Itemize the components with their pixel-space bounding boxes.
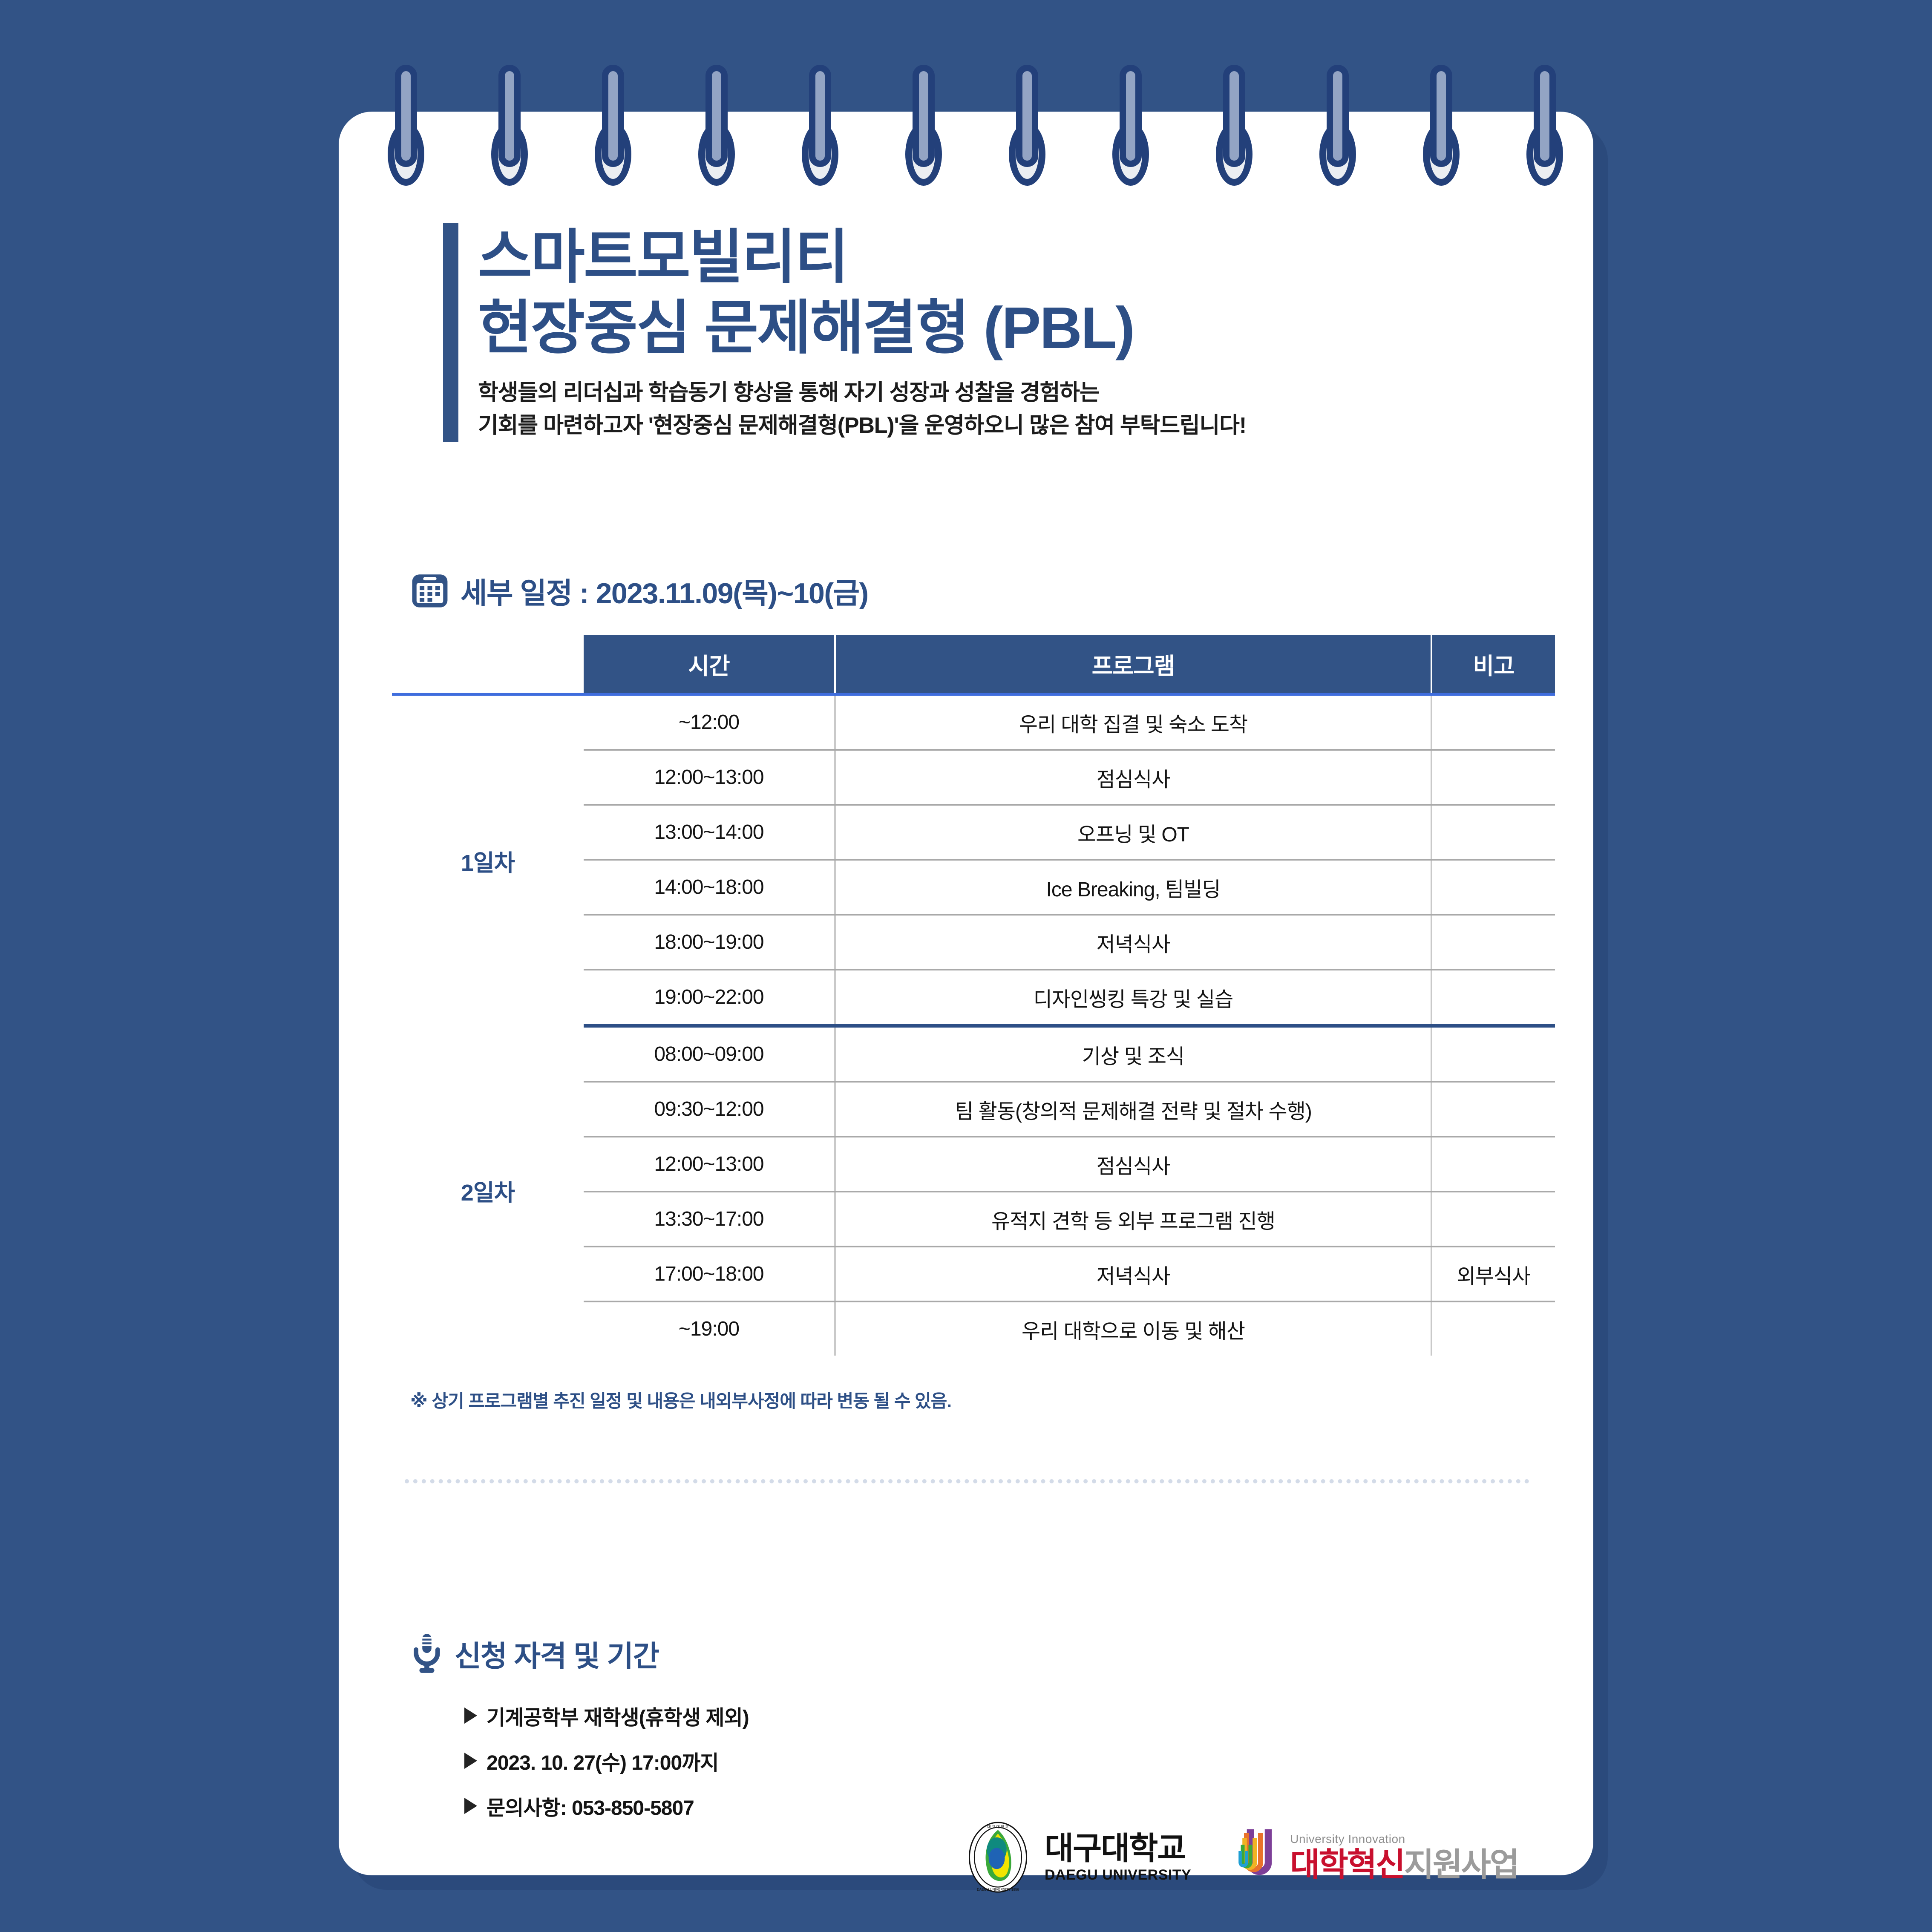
- column-header-time: 시간: [584, 635, 835, 694]
- column-header-note: 비고: [1431, 635, 1555, 694]
- cell-note: [1431, 1301, 1555, 1356]
- cell-note: [1431, 970, 1555, 1026]
- university-innovation-tagline: University Innovation: [1290, 1833, 1518, 1845]
- column-header-day: [392, 635, 584, 694]
- cell-program: Ice Breaking, 팀빌딩: [835, 860, 1431, 915]
- poster-subtitle-line1: 학생들의 리더십과 학습동기 향상을 통해 자기 성장과 성찰을 경험하는: [478, 377, 1246, 409]
- list-item: 2023. 10. 27(수) 17:00까지: [464, 1746, 749, 1776]
- calendar-icon: [410, 571, 449, 610]
- day-label: 1일차: [392, 694, 584, 1026]
- day-label: 2일차: [392, 1026, 584, 1356]
- cell-program: 저녁식사: [835, 915, 1431, 970]
- schedule-table: 시간 프로그램 비고 1일차 ~12:00 우리 대학 집결 및 숙소 도착 1…: [392, 635, 1555, 1356]
- title-accent-bar: [443, 223, 458, 442]
- cell-program: 오프닝 및 OT: [835, 805, 1431, 860]
- cell-note: [1431, 805, 1555, 860]
- cell-program: 저녁식사: [835, 1247, 1431, 1301]
- cell-note: [1431, 694, 1555, 750]
- table-row: 2일차 08:00~09:00 기상 및 조식: [392, 1026, 1555, 1082]
- cell-time: 18:00~19:00: [584, 915, 835, 970]
- daegu-university-logo: · 대 구 대 학 교 · DAEGU UNIVERSITY 1956 대구대학…: [961, 1820, 1191, 1895]
- university-innovation-name-red: 대학혁신: [1290, 1847, 1404, 1883]
- cell-time: 12:00~13:00: [584, 1137, 835, 1192]
- svg-text:DAEGU UNIVERSITY 1956: DAEGU UNIVERSITY 1956: [977, 1888, 1019, 1892]
- cell-note: [1431, 1026, 1555, 1082]
- cell-time: 17:00~18:00: [584, 1247, 835, 1301]
- list-item: 문의사항: 053-850-5807: [464, 1791, 749, 1821]
- cell-program: 점심식사: [835, 1137, 1431, 1192]
- university-innovation-u-icon: [1234, 1825, 1285, 1889]
- cell-time: 19:00~22:00: [584, 970, 835, 1026]
- daegu-university-name-kr: 대구대학교: [1045, 1833, 1191, 1864]
- cell-note: [1431, 1082, 1555, 1137]
- apply-items-list: 기계공학부 재학생(휴학생 제외) 2023. 10. 27(수) 17:00까…: [464, 1701, 749, 1836]
- cell-program: 유적지 견학 등 외부 프로그램 진행: [835, 1192, 1431, 1247]
- daegu-university-name-en: DAEGU UNIVERSITY: [1045, 1868, 1191, 1882]
- poster-title-block: 스마트모빌리티 현장중심 문제해결형 (PBL) 학생들의 리더십과 학습동기 …: [443, 223, 1246, 442]
- poster-title-line2: 현장중심 문제해결형 (PBL): [478, 294, 1246, 362]
- cell-time: ~12:00: [584, 694, 835, 750]
- university-innovation-name-gray: 지원사업: [1404, 1847, 1518, 1883]
- triangle-bullet-icon: [464, 1707, 477, 1724]
- poster-title-line1: 스마트모빌리티: [478, 223, 1246, 291]
- triangle-bullet-icon: [464, 1753, 477, 1769]
- cell-program: 우리 대학 집결 및 숙소 도착: [835, 694, 1431, 750]
- schedule-footnote: ※ 상기 프로그램별 추진 일정 및 내용은 내외부사정에 따라 변동 될 수 …: [410, 1387, 951, 1413]
- university-innovation-logo: University Innovation 대학혁신지원사업: [1234, 1825, 1518, 1889]
- cell-program: 디자인씽킹 특강 및 실습: [835, 970, 1431, 1026]
- schedule-heading-label: 세부 일정 : 2023.11.09(목)~10(금): [461, 570, 868, 612]
- svg-text:· 대 구 대 학 교 ·: · 대 구 대 학 교 ·: [985, 1825, 1011, 1829]
- cell-program: 점심식사: [835, 750, 1431, 805]
- schedule-heading: 세부 일정 : 2023.11.09(목)~10(금): [410, 570, 868, 612]
- cell-time: ~19:00: [584, 1301, 835, 1356]
- cell-time: 13:00~14:00: [584, 805, 835, 860]
- cell-note: [1431, 1192, 1555, 1247]
- cell-time: 13:30~17:00: [584, 1192, 835, 1247]
- apply-item-label: 2023. 10. 27(수) 17:00까지: [487, 1746, 718, 1776]
- schedule-header-row: 시간 프로그램 비고: [392, 635, 1555, 694]
- cell-note: [1431, 1137, 1555, 1192]
- logo-row: · 대 구 대 학 교 · DAEGU UNIVERSITY 1956 대구대학…: [961, 1820, 1518, 1895]
- cell-time: 14:00~18:00: [584, 860, 835, 915]
- cell-note: [1431, 915, 1555, 970]
- cell-program: 팀 활동(창의적 문제해결 전략 및 절차 수행): [835, 1082, 1431, 1137]
- apply-item-label: 기계공학부 재학생(휴학생 제외): [487, 1701, 749, 1730]
- cell-time: 08:00~09:00: [584, 1026, 835, 1082]
- cell-note: [1431, 860, 1555, 915]
- column-header-program: 프로그램: [835, 635, 1431, 694]
- section-divider: [405, 1479, 1529, 1483]
- apply-item-label: 문의사항: 053-850-5807: [487, 1791, 694, 1821]
- list-item: 기계공학부 재학생(휴학생 제외): [464, 1701, 749, 1730]
- triangle-bullet-icon: [464, 1798, 477, 1814]
- apply-heading: 신청 자격 및 기간: [410, 1633, 659, 1675]
- cell-time: 12:00~13:00: [584, 750, 835, 805]
- table-row: 1일차 ~12:00 우리 대학 집결 및 숙소 도착: [392, 694, 1555, 750]
- cell-program: 기상 및 조식: [835, 1026, 1431, 1082]
- daegu-university-seal-icon: · 대 구 대 학 교 · DAEGU UNIVERSITY 1956: [961, 1820, 1035, 1895]
- apply-heading-label: 신청 자격 및 기간: [455, 1633, 659, 1675]
- cell-note: [1431, 750, 1555, 805]
- poster-subtitle-line2: 기회를 마련하고자 '현장중심 문제해결형(PBL)'을 운영하오니 많은 참여…: [478, 409, 1246, 442]
- microphone-icon: [410, 1633, 443, 1675]
- cell-program: 우리 대학으로 이동 및 해산: [835, 1301, 1431, 1356]
- cell-time: 09:30~12:00: [584, 1082, 835, 1137]
- cell-note: 외부식사: [1431, 1247, 1555, 1301]
